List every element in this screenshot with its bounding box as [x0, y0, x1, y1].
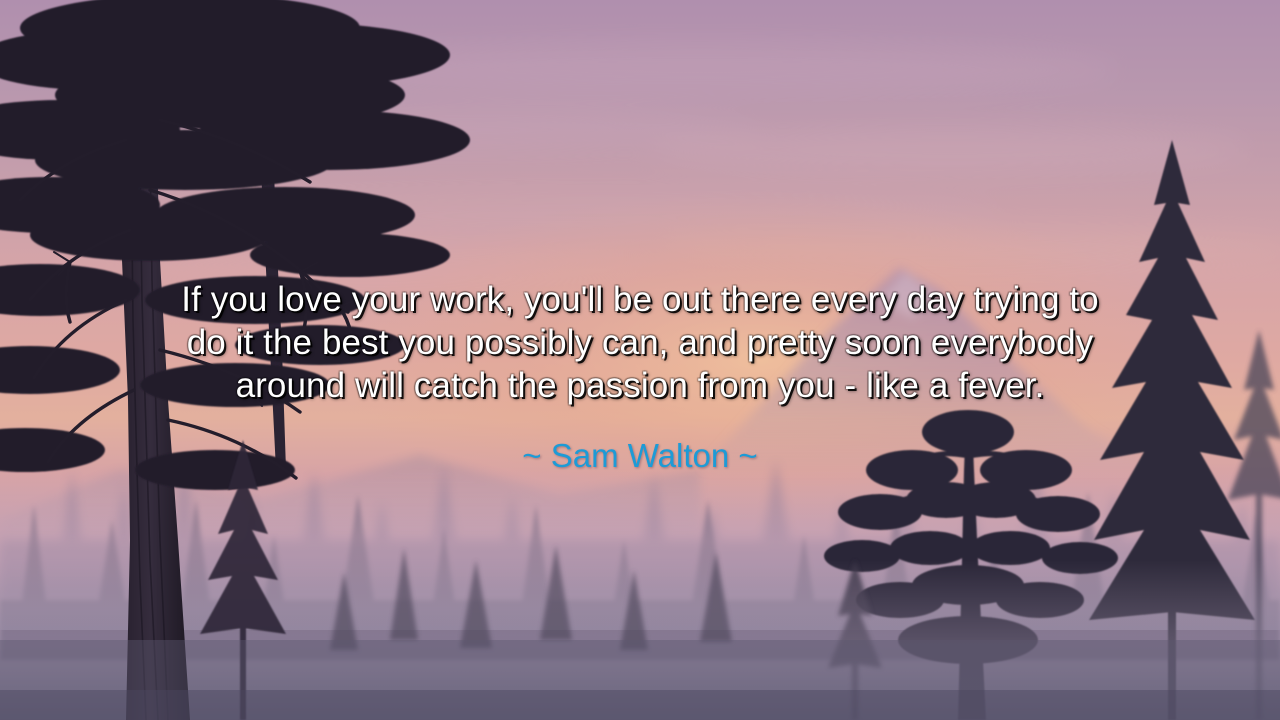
bottom-shadow [0, 690, 1280, 720]
forest-sunset-background [0, 0, 1280, 720]
quote-wallpaper: If you love your work, you'll be out the… [0, 0, 1280, 720]
